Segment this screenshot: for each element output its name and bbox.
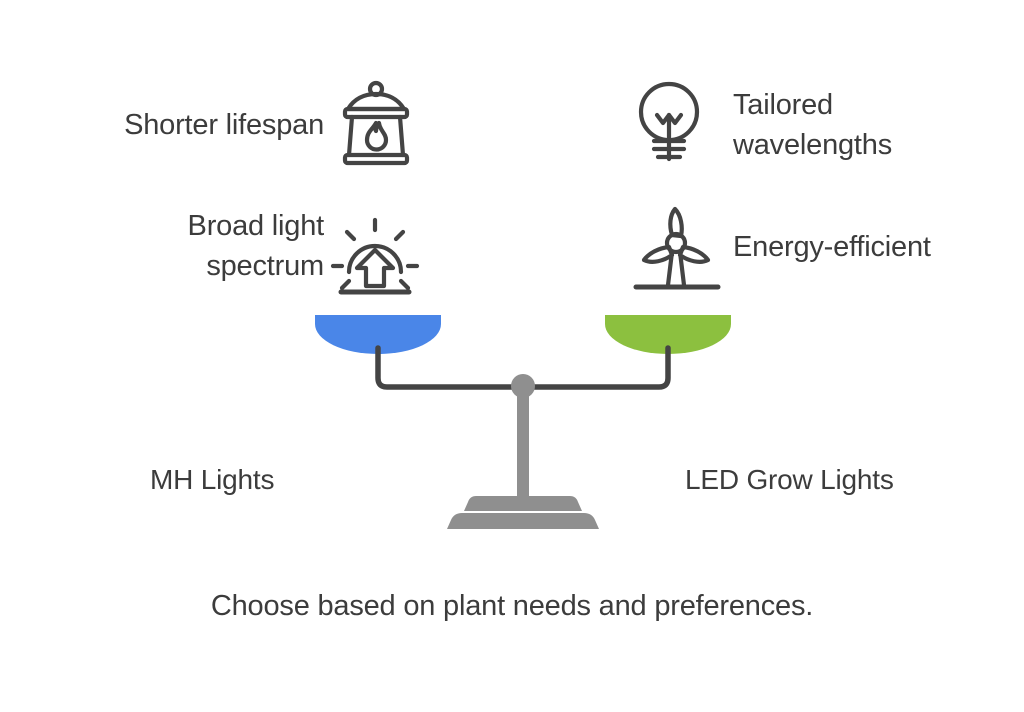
left-side-name: MH Lights xyxy=(150,463,274,497)
caption-text: Choose based on plant needs and preferen… xyxy=(0,586,1024,626)
wind-turbine-icon xyxy=(628,205,724,297)
light-bulb-icon xyxy=(630,79,708,171)
lantern-flame-icon xyxy=(336,79,416,171)
right-side-name: LED Grow Lights xyxy=(685,463,894,497)
scale-base-lower xyxy=(447,513,599,529)
right-beam-arm xyxy=(523,348,668,387)
scale-pivot xyxy=(511,374,535,398)
sunrise-arrow-icon xyxy=(325,210,425,296)
comparison-infographic: Shorter lifespan Broad light spectrum Ta… xyxy=(0,0,1024,712)
scale-base-upper xyxy=(464,496,582,511)
scale-column xyxy=(517,387,529,509)
left-beam-arm xyxy=(378,348,523,387)
balance-scale xyxy=(296,300,752,540)
right-feature-label-tailored-wavelengths: Tailored wavelengths xyxy=(733,85,993,165)
right-feature-label-energy-efficient: Energy-efficient xyxy=(733,227,1013,267)
left-feature-label-shorter-lifespan: Shorter lifespan xyxy=(64,105,324,145)
left-feature-label-broad-light-spectrum: Broad light spectrum xyxy=(64,206,324,286)
